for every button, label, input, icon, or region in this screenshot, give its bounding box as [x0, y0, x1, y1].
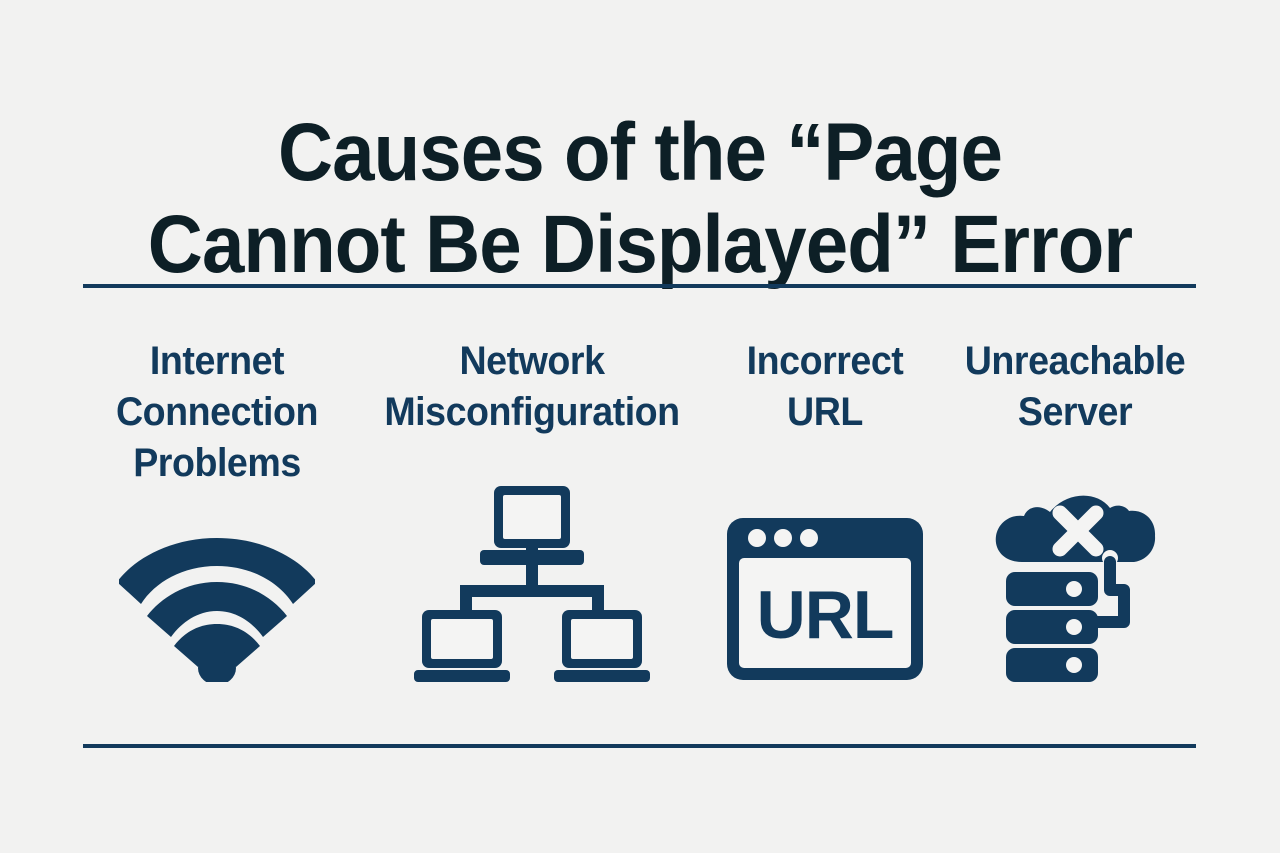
cause-heading: Unreachable Server	[961, 336, 1188, 438]
network-diagram-icon	[367, 486, 697, 682]
cause-item-incorrect-url: Incorrect URL URL	[712, 336, 938, 696]
cause-item-unreachable-server: Unreachable Server	[954, 336, 1196, 696]
divider-top	[83, 284, 1196, 288]
cloud-server-error-icon	[954, 486, 1196, 682]
cause-heading: Incorrect URL	[719, 336, 931, 438]
cause-item-internet-connection: Internet Connection Problems	[83, 336, 351, 696]
infographic-poster: Causes of the “Page Cannot Be Displayed”…	[0, 0, 1280, 853]
url-text: URL	[757, 577, 894, 653]
page-title: Causes of the “Page Cannot Be Displayed”…	[45, 107, 1235, 291]
causes-row: Internet Connection Problems Network Mis…	[83, 336, 1196, 696]
browser-url-window-icon: URL	[712, 516, 938, 682]
cause-heading: Internet Connection Problems	[91, 336, 343, 489]
divider-bottom	[83, 744, 1196, 748]
wifi-icon	[83, 530, 351, 682]
cause-item-network-misconfiguration: Network Misconfiguration	[367, 336, 697, 696]
cause-heading: Network Misconfiguration	[377, 336, 687, 438]
